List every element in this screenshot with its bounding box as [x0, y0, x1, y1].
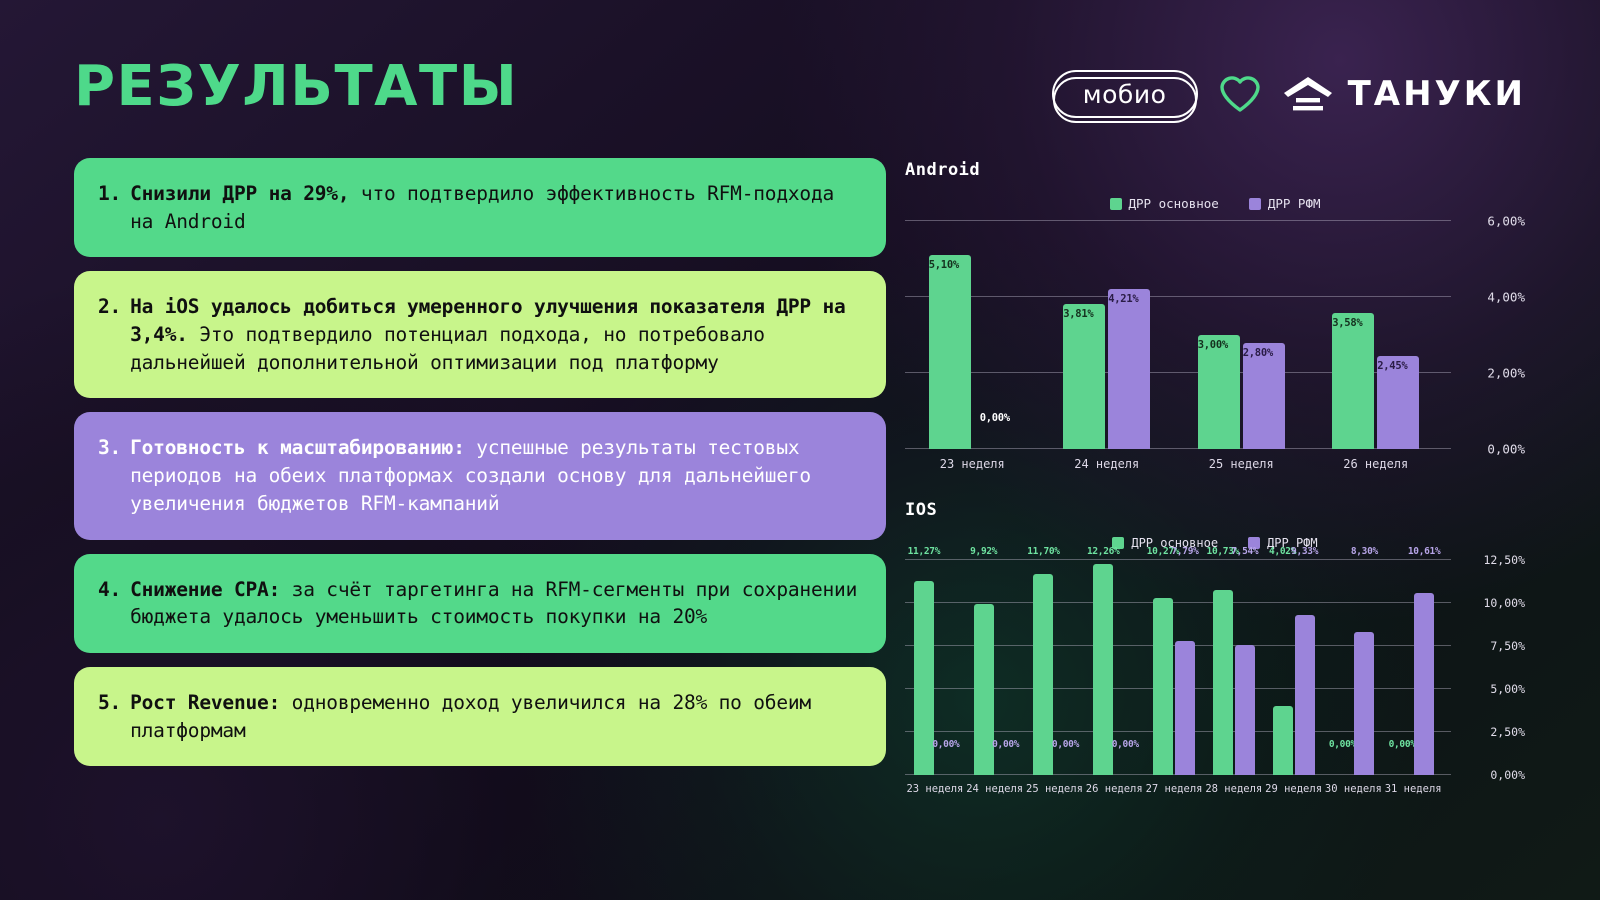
- chart-android-xaxis: 23 неделя24 неделя25 неделя26 неделя: [905, 449, 1443, 471]
- x-axis-tick: 30 неделя: [1323, 775, 1383, 795]
- bar-rfm: 10,61%: [1414, 560, 1434, 775]
- bar-rect: [1414, 593, 1434, 775]
- legend-item-rfm: ДРР РФМ: [1249, 196, 1321, 211]
- legend-swatch-icon: [1110, 198, 1122, 210]
- y-axis-tick: 0,00%: [1451, 768, 1525, 782]
- y-axis-tick: 0,00%: [1451, 442, 1525, 457]
- bar-group: 0,00%8,30%: [1323, 560, 1383, 775]
- bar-group: 4,02%9,33%: [1264, 560, 1324, 775]
- bar-value-label: 0,00%: [980, 413, 1010, 424]
- results-list: 1.Снизили ДРР на 29%, что подтвердило эф…: [74, 158, 886, 780]
- result-card-number: 2.: [98, 293, 121, 376]
- bar-main: 5,10%: [929, 221, 971, 449]
- result-card-text: Рост Revenue: одновременно доход увеличи…: [130, 689, 860, 744]
- bar-main: 3,81%: [1063, 221, 1105, 449]
- result-card-text: На iOS удалось добиться умеренного улучш…: [130, 293, 860, 376]
- bar-group: 3,81%4,21%: [1040, 221, 1175, 449]
- result-card-text: Снизили ДРР на 29%, что подтвердило эффе…: [130, 180, 860, 235]
- bar-value-label: 5,10%: [929, 260, 959, 271]
- legend-label: ДРР основное: [1129, 196, 1219, 211]
- mobio-logo: мобио: [1052, 70, 1198, 118]
- bar-group: 10,27%7,79%: [1144, 560, 1204, 775]
- slide-root: РЕЗУЛЬТАТЫ мобио ТАНУКИ 1.Снизили ДРР на…: [0, 0, 1600, 900]
- page-title: РЕЗУЛЬТАТЫ: [74, 59, 518, 115]
- bar-main: 11,27%: [914, 560, 934, 775]
- x-axis-tick: 29 неделя: [1264, 775, 1324, 795]
- tanuki-logo-label: ТАНУКИ: [1348, 74, 1526, 114]
- x-axis-tick: 25 неделя: [1174, 449, 1309, 471]
- x-axis-tick: 25 неделя: [1025, 775, 1085, 795]
- result-card-text: Снижение CPA: за счёт таргетинга на RFM-…: [130, 576, 860, 631]
- bar-rfm: 0,00%: [1115, 560, 1135, 775]
- bar-group: 3,00%2,80%: [1174, 221, 1309, 449]
- bar-rfm: 2,80%: [1243, 221, 1285, 449]
- legend-swatch-icon: [1249, 198, 1261, 210]
- bar-groups: 11,27%0,00%9,92%0,00%11,70%0,00%12,26%0,…: [905, 560, 1443, 775]
- bar-value-label: 7,54%: [1231, 547, 1258, 557]
- y-axis-tick: 4,00%: [1451, 289, 1525, 304]
- chart-ios: IOS ДРР основноеДРР РФМ 11,27%0,00%9,92%…: [905, 500, 1525, 820]
- bar-rfm: 0,00%: [996, 560, 1016, 775]
- result-card-2: 2.На iOS удалось добиться умеренного улу…: [74, 271, 886, 398]
- y-axis-tick: 6,00%: [1451, 214, 1525, 229]
- bar-group: 11,27%0,00%: [905, 560, 965, 775]
- bar-group: 9,92%0,00%: [965, 560, 1025, 775]
- result-card-number: 1.: [98, 180, 121, 235]
- bar-rect: [1273, 706, 1293, 775]
- x-axis-tick: 27 неделя: [1144, 775, 1204, 795]
- bar-group: 11,70%0,00%: [1025, 560, 1085, 775]
- bar-main: 0,00%: [1392, 560, 1412, 775]
- bar-value-label: 0,00%: [1112, 740, 1139, 750]
- chart-android-legend: ДРР основноеДРР РФМ: [905, 196, 1525, 211]
- bar-value-label: 0,00%: [1389, 740, 1416, 750]
- bar-value-label: 0,00%: [932, 740, 959, 750]
- bar-rect: [1093, 564, 1113, 775]
- bar-rect: 2,80%: [1243, 343, 1285, 449]
- bar-rect: 5,10%: [929, 255, 971, 449]
- y-axis-tick: 10,00%: [1451, 596, 1525, 610]
- bar-rfm: 2,45%: [1377, 221, 1419, 449]
- bar-value-label: 3,81%: [1063, 309, 1093, 320]
- bar-group: 5,10%0,00%: [905, 221, 1040, 449]
- bar-rect: [1033, 574, 1053, 775]
- bar-rect: [1235, 645, 1255, 775]
- bar-value-label: 4,21%: [1108, 294, 1138, 305]
- x-axis-tick: 28 неделя: [1204, 775, 1264, 795]
- bar-rect: 3,81%: [1063, 304, 1105, 449]
- result-card-highlight: Снижение CPA:: [130, 578, 280, 601]
- bar-main: 9,92%: [974, 560, 994, 775]
- x-axis-tick: 23 неделя: [905, 775, 965, 795]
- result-card-3: 3.Готовность к масштабированию: успешные…: [74, 412, 886, 539]
- bar-value-label: 7,79%: [1171, 547, 1198, 557]
- result-card-4: 4.Снижение CPA: за счёт таргетинга на RF…: [74, 554, 886, 653]
- bar-value-label: 0,00%: [1329, 740, 1356, 750]
- bar-rect: [1213, 590, 1233, 775]
- bar-rfm: 0,00%: [974, 221, 1016, 449]
- bar-main: 4,02%: [1273, 560, 1293, 775]
- bar-value-label: 0,00%: [1052, 740, 1079, 750]
- bar-rect: [1354, 632, 1374, 775]
- bar-group: 12,26%0,00%: [1084, 560, 1144, 775]
- bar-rect: 3,58%: [1332, 313, 1374, 449]
- bar-value-label: 12,26%: [1087, 547, 1120, 557]
- bar-group: 0,00%10,61%: [1383, 560, 1443, 775]
- bar-value-label: 10,61%: [1408, 547, 1441, 557]
- bar-main: 11,70%: [1033, 560, 1053, 775]
- result-card-number: 4.: [98, 576, 121, 631]
- bar-group: 10,73%7,54%: [1204, 560, 1264, 775]
- bar-rfm: 0,00%: [936, 560, 956, 775]
- bar-value-label: 9,33%: [1291, 547, 1318, 557]
- bar-value-label: 0,00%: [992, 740, 1019, 750]
- result-card-text: Готовность к масштабированию: успешные р…: [130, 434, 860, 517]
- y-axis-tick: 12,50%: [1451, 553, 1525, 567]
- chart-android-plot: 5,10%0,00%3,81%4,21%3,00%2,80%3,58%2,45%…: [905, 221, 1525, 449]
- bar-rfm: 4,21%: [1108, 221, 1150, 449]
- y-axis-tick: 7,50%: [1451, 639, 1525, 653]
- bar-rect: [1295, 615, 1315, 775]
- bar-value-label: 9,92%: [970, 547, 997, 557]
- bar-main: 3,58%: [1332, 221, 1374, 449]
- bar-rfm: 7,54%: [1235, 560, 1255, 775]
- x-axis-tick: 24 неделя: [1040, 449, 1175, 471]
- bar-value-label: 11,70%: [1027, 547, 1060, 557]
- bar-group: 3,58%2,45%: [1309, 221, 1444, 449]
- plot-area: 11,27%0,00%9,92%0,00%11,70%0,00%12,26%0,…: [905, 560, 1443, 775]
- x-axis-tick: 26 неделя: [1309, 449, 1444, 471]
- bar-rfm: 8,30%: [1354, 560, 1374, 775]
- result-card-highlight: Снизили ДРР на 29%,: [130, 182, 349, 205]
- bar-rfm: 7,79%: [1175, 560, 1195, 775]
- bar-rect: [914, 581, 934, 775]
- chart-ios-title: IOS: [905, 500, 1525, 520]
- x-axis-tick: 31 неделя: [1383, 775, 1443, 795]
- y-axis-tick: 2,00%: [1451, 365, 1525, 380]
- plot-area: 5,10%0,00%3,81%4,21%3,00%2,80%3,58%2,45%: [905, 221, 1443, 449]
- result-card-number: 5.: [98, 689, 121, 744]
- bar-main: 0,00%: [1332, 560, 1352, 775]
- pagoda-icon: [1282, 74, 1334, 114]
- chart-ios-plot: 11,27%0,00%9,92%0,00%11,70%0,00%12,26%0,…: [905, 560, 1525, 775]
- bar-value-label: 11,27%: [908, 547, 941, 557]
- x-axis-tick: 23 неделя: [905, 449, 1040, 471]
- heart-icon: [1220, 75, 1260, 113]
- bar-groups: 5,10%0,00%3,81%4,21%3,00%2,80%3,58%2,45%: [905, 221, 1443, 449]
- y-axis-tick: 2,50%: [1451, 725, 1525, 739]
- bar-value-label: 3,00%: [1198, 340, 1228, 351]
- bar-rect: [1153, 598, 1173, 775]
- bar-rect: 2,45%: [1377, 356, 1419, 449]
- result-card-number: 3.: [98, 434, 121, 517]
- result-card-body: Это подтвердило потенциал подхода, но по…: [130, 323, 765, 374]
- bar-value-label: 3,58%: [1332, 318, 1362, 329]
- bar-rfm: 9,33%: [1295, 560, 1315, 775]
- bar-main: 12,26%: [1093, 560, 1113, 775]
- bar-rfm: 0,00%: [1055, 560, 1075, 775]
- chart-android: Android ДРР основноеДРР РФМ 5,10%0,00%3,…: [905, 160, 1525, 485]
- bar-main: 10,73%: [1213, 560, 1233, 775]
- x-axis-tick: 24 неделя: [965, 775, 1025, 795]
- bar-rect: 4,21%: [1108, 289, 1150, 449]
- x-axis-tick: 26 неделя: [1084, 775, 1144, 795]
- chart-android-title: Android: [905, 160, 1525, 180]
- bar-rect: [1175, 641, 1195, 775]
- bar-rect: [974, 604, 994, 775]
- result-card-1: 1.Снизили ДРР на 29%, что подтвердило эф…: [74, 158, 886, 257]
- y-axis-tick: 5,00%: [1451, 682, 1525, 696]
- result-card-highlight: Готовность к масштабированию:: [130, 436, 465, 459]
- mobio-logo-label: мобио: [1052, 70, 1198, 118]
- bar-value-label: 8,30%: [1351, 547, 1378, 557]
- logo-group: мобио ТАНУКИ: [1052, 63, 1526, 125]
- tanuki-logo: ТАНУКИ: [1282, 74, 1526, 114]
- bar-main: 10,27%: [1153, 560, 1173, 775]
- result-card-5: 5.Рост Revenue: одновременно доход увели…: [74, 667, 886, 766]
- bar-value-label: 2,80%: [1243, 348, 1273, 359]
- chart-ios-xaxis: 23 неделя24 неделя25 неделя26 неделя27 н…: [905, 775, 1443, 795]
- legend-label: ДРР РФМ: [1268, 196, 1321, 211]
- bar-main: 3,00%: [1198, 221, 1240, 449]
- result-card-highlight: Рост Revenue:: [130, 691, 280, 714]
- legend-item-main: ДРР основное: [1110, 196, 1219, 211]
- bar-value-label: 2,45%: [1377, 361, 1407, 372]
- bar-rect: 3,00%: [1198, 335, 1240, 449]
